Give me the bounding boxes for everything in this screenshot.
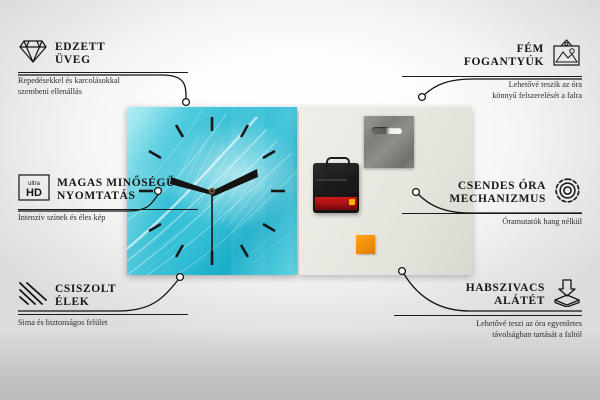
feature-quiet-mechanism: CSENDES ÓRA MECHANIZMUS Óramutatók hang … [402, 176, 582, 228]
divider [394, 315, 582, 316]
feature-desc-line1: Lehetővé teszik az óra [402, 80, 582, 91]
clock-mechanism-box [313, 163, 359, 213]
infographic-canvas: EDZETT ÜVEG Repedésekkel és karcolásokka… [0, 0, 600, 400]
feature-desc-line1: Óramutatók hang nélkül [402, 217, 582, 228]
feature-desc-line2: szembeni ellenállás [18, 87, 188, 98]
feature-desc-line1: Lehetővé teszi az óra egyenletes [394, 319, 582, 330]
mechanism-handle [326, 157, 350, 169]
hanger-keyhole-slot [372, 127, 402, 134]
ultra-hd-icon: ultra HD [18, 174, 50, 206]
feature-title: CSISZOLT ÉLEK [55, 283, 116, 309]
polished-edge-icon [18, 280, 48, 311]
diamond-icon [18, 38, 48, 69]
hanging-frame-icon [551, 38, 582, 73]
feature-desc-line1: Intenzív színek és éles kép [18, 213, 198, 224]
mechanism-seam [317, 179, 347, 181]
feature-title: CSENDES ÓRA MECHANIZMUS [449, 180, 546, 206]
foam-press-icon [552, 278, 582, 312]
feature-desc-line1: Repedésekkel és karcolásokkal [18, 76, 188, 87]
feature-polished-edges: CSISZOLT ÉLEK Sima és biztonságos felüle… [18, 280, 188, 329]
feature-desc-line2: könnyű felszerelését a falra [402, 91, 582, 102]
feature-title: MAGAS MINŐSÉGŰ NYOMTATÁS [57, 177, 175, 203]
divider [402, 213, 582, 214]
feature-desc-line2: távolságban tartását a faltól [394, 330, 582, 341]
divider [18, 314, 188, 315]
divider [18, 209, 198, 210]
feature-title: HABSZIVACS ALÁTÉT [466, 282, 545, 308]
feature-title: EDZETT ÜVEG [55, 41, 105, 67]
battery-label [315, 197, 357, 210]
feature-foam-spacer: HABSZIVACS ALÁTÉT Lehetővé teszi az óra … [394, 278, 582, 340]
metal-hanger-plate [364, 116, 414, 168]
divider [402, 76, 582, 77]
gear-icon [553, 176, 582, 210]
divider [18, 72, 188, 73]
feature-title: FÉM FOGANTYÚK [464, 43, 544, 69]
feature-high-quality-print: ultra HD MAGAS MINŐSÉGŰ NYOMTATÁS Intenz… [18, 174, 198, 224]
feature-desc-line1: Sima és biztonságos felület [18, 318, 188, 329]
foam-spacer-pad [356, 235, 375, 254]
feature-tempered-glass: EDZETT ÜVEG Repedésekkel és karcolásokka… [18, 38, 188, 97]
feature-metal-handles: FÉM FOGANTYÚK Lehetővé teszik az óra kön… [402, 38, 582, 101]
svg-text:HD: HD [26, 187, 42, 199]
